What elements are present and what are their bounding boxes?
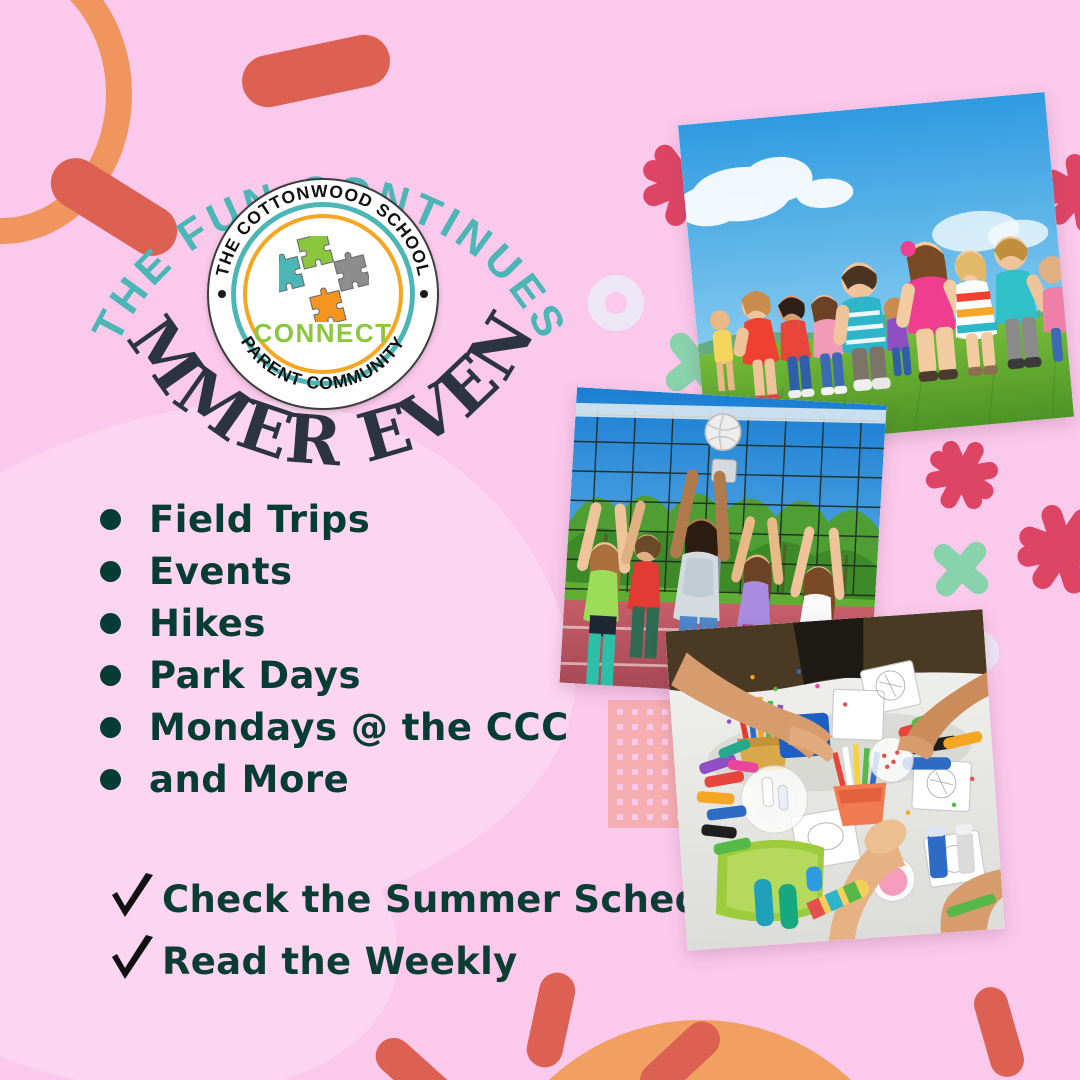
list-item-label: Hikes <box>149 602 266 645</box>
list-item: and More <box>100 753 660 805</box>
bullet-dot-icon <box>100 717 121 738</box>
bullet-dot-icon <box>100 613 121 634</box>
list-item-label: Park Days <box>149 654 361 697</box>
poster-canvas: THE FUN CONTINUES SUMMER EVENTS THE COTT… <box>0 0 1080 1080</box>
checkmark-icon <box>108 935 156 987</box>
checkmark-icon <box>108 873 156 925</box>
pink-asterisk-decoration <box>1010 494 1080 603</box>
coral-pill-decoration <box>970 983 1028 1080</box>
checklist-item-label: Read the Weekly <box>162 940 518 983</box>
bullet-dot-icon <box>100 665 121 686</box>
list-item: Mondays @ the CCC <box>100 701 660 753</box>
green-cross-decoration <box>926 534 996 604</box>
photo-kids-crafts-art <box>665 609 1005 950</box>
checklist-item-label: Check the Summer Schedule <box>162 878 766 921</box>
orange-sun-decoration <box>480 1020 920 1080</box>
pink-asterisk-decoration <box>917 429 1006 521</box>
logo-center-word: CONNECT <box>207 318 439 349</box>
white-ring-decoration <box>588 275 644 331</box>
call-to-action-checklist: Check the Summer Schedule Read the Weekl… <box>108 868 766 992</box>
bullet-dot-icon <box>100 561 121 582</box>
sun-ray-pill <box>633 1014 728 1080</box>
list-item-label: Events <box>149 550 293 593</box>
bullet-dot-icon <box>100 509 121 530</box>
checklist-item: Read the Weekly <box>108 930 766 992</box>
list-item-label: and More <box>149 758 349 801</box>
cottonwood-connect-logo: THE COTTONWOOD SCHOOL PARENT COMMUNITY C… <box>207 178 439 410</box>
list-item-label: Mondays @ the CCC <box>149 706 569 749</box>
puzzle-pieces-icon <box>279 236 369 322</box>
bullet-dot-icon <box>100 769 121 790</box>
photo-kids-crafts <box>665 609 1005 950</box>
checklist-item: Check the Summer Schedule <box>108 868 766 930</box>
sun-ray-pill <box>368 1031 463 1080</box>
list-item-label: Field Trips <box>149 498 370 541</box>
